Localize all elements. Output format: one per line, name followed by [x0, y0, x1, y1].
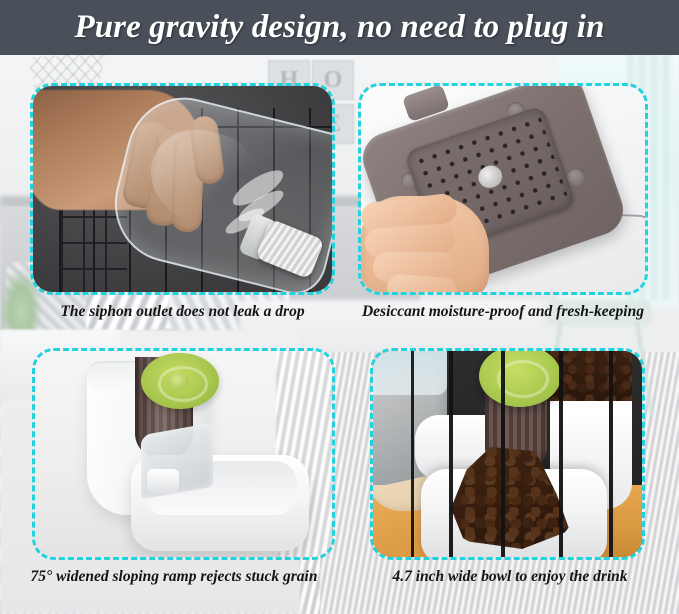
caption-wide-bowl: 4.7 inch wide bowl to enjoy the drink: [370, 568, 650, 586]
header-banner: Pure gravity design, no need to plug in: [0, 0, 679, 55]
outlet-valve: [147, 469, 179, 493]
screw-boss: [567, 168, 585, 186]
photo-wide-bowl: [373, 351, 642, 557]
feature-panel-wide-bowl: [370, 348, 645, 560]
caption-sloping-ramp: 75° widened sloping ramp rejects stuck g…: [14, 568, 334, 586]
photo-siphon-outlet: [33, 86, 332, 292]
caption-siphon-outlet: The siphon outlet does not leak a drop: [30, 303, 335, 321]
feature-panel-desiccant-box: [358, 83, 648, 295]
cage-bar: [559, 351, 563, 557]
water-level: [373, 351, 447, 395]
caption-desiccant-box: Desiccant moisture-proof and fresh-keepi…: [352, 303, 654, 321]
feature-panel-sloping-ramp: [32, 348, 335, 560]
green-lid-center: [167, 373, 189, 389]
photo-desiccant-box: [361, 86, 645, 292]
cage-bar: [609, 351, 613, 557]
feature-panel-siphon-outlet: [30, 83, 335, 295]
header-title: Pure gravity design, no need to plug in: [74, 9, 604, 46]
cage-bar: [501, 351, 505, 557]
cage-bar: [411, 351, 414, 557]
cage-bar: [449, 351, 453, 557]
photo-sloping-ramp: [35, 351, 332, 557]
